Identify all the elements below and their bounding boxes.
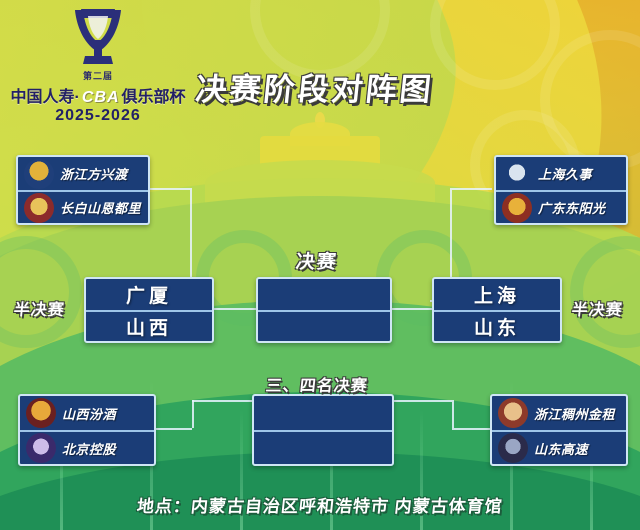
quarterfinal-top-right-box[interactable]: 上海久事 广东东阳光 bbox=[494, 155, 628, 225]
team-name: 广厦 bbox=[86, 281, 212, 308]
connector-bl-to-third bbox=[192, 400, 252, 402]
quarterfinal-bottom-left-box[interactable]: 山西汾酒 北京控股 bbox=[18, 394, 156, 466]
connector-tl-h bbox=[148, 188, 190, 190]
guangdong-crest-icon bbox=[502, 193, 532, 223]
logo-title: 中国人寿·CBA俱乐部杯 bbox=[8, 83, 188, 107]
venue-footer: 地点：内蒙古自治区呼和浩特市 内蒙古体育馆 bbox=[0, 492, 640, 517]
connector-br-h bbox=[452, 428, 490, 430]
team-name: 北京控股 bbox=[62, 439, 116, 458]
quarterfinal-bottom-right-box[interactable]: 浙江稠州金租 山东高速 bbox=[490, 394, 628, 466]
label-semifinal-right: 半决赛 bbox=[571, 296, 625, 320]
label-semifinal-left: 半决赛 bbox=[13, 296, 67, 320]
chouzhou-crest-icon bbox=[498, 398, 528, 428]
table-row[interactable]: 长白山恩都里 bbox=[18, 190, 148, 223]
table-row[interactable]: 广厦 bbox=[86, 279, 212, 310]
table-row[interactable]: 浙江方兴渡 bbox=[18, 157, 148, 190]
semifinal-right-box[interactable]: 上海 山东 bbox=[432, 277, 562, 343]
table-row[interactable]: 山东 bbox=[434, 310, 560, 341]
connector-sf-right-to-final bbox=[388, 308, 432, 310]
team-name: 浙江方兴渡 bbox=[60, 164, 128, 183]
team-name: 上海久事 bbox=[538, 164, 592, 183]
table-row[interactable]: 上海久事 bbox=[496, 157, 626, 190]
connector-bl-v bbox=[192, 400, 194, 428]
table-row[interactable]: 上海 bbox=[434, 279, 560, 310]
team-name: 长白山恩都里 bbox=[60, 198, 141, 217]
logo-edition: 第二届 bbox=[8, 69, 188, 82]
table-row[interactable] bbox=[254, 396, 392, 430]
beijing-crest-icon bbox=[26, 433, 56, 463]
semifinal-left-box[interactable]: 广厦 山西 bbox=[84, 277, 214, 343]
shandong-crest-icon bbox=[498, 433, 528, 463]
team-name: 山西汾酒 bbox=[62, 404, 116, 423]
logo-season: 2025-2026 bbox=[8, 107, 188, 125]
tournament-logo: 第二届 中国人寿·CBA俱乐部杯 2025-2026 bbox=[8, 6, 188, 125]
connector-sf-left-to-final bbox=[210, 308, 256, 310]
table-row[interactable] bbox=[254, 430, 392, 464]
team-name: 山西 bbox=[86, 313, 212, 340]
team-name: 广东东阳光 bbox=[538, 198, 606, 217]
zhejiang-crest-icon bbox=[24, 159, 54, 189]
connector-tr-h bbox=[452, 188, 492, 190]
table-row[interactable] bbox=[258, 279, 390, 310]
table-row[interactable]: 浙江稠州金租 bbox=[492, 396, 626, 430]
table-row[interactable]: 山西 bbox=[86, 310, 212, 341]
page-title: 决赛阶段对阵图 bbox=[194, 64, 437, 109]
connector-br-v bbox=[452, 400, 454, 428]
team-name: 上海 bbox=[434, 281, 560, 308]
third-place-match-box[interactable] bbox=[252, 394, 394, 466]
logo-league: CBA bbox=[80, 89, 122, 107]
table-row[interactable]: 北京控股 bbox=[20, 430, 154, 464]
quarterfinal-top-left-box[interactable]: 浙江方兴渡 长白山恩都里 bbox=[16, 155, 150, 225]
bracket-poster: 第二届 中国人寿·CBA俱乐部杯 2025-2026 决赛阶段对阵图 浙江方兴渡… bbox=[0, 0, 640, 530]
team-name: 山东高速 bbox=[534, 439, 588, 458]
team-name: 浙江稠州金租 bbox=[534, 404, 615, 423]
trophy-icon bbox=[55, 6, 141, 68]
team-name: 山东 bbox=[434, 313, 560, 340]
label-final: 决赛 bbox=[295, 247, 340, 274]
label-third-place: 三、四名决赛 bbox=[265, 372, 370, 396]
table-row[interactable] bbox=[258, 310, 390, 341]
logo-sponsor: 中国人寿· bbox=[10, 89, 79, 106]
changbaishan-crest-icon bbox=[24, 193, 54, 223]
final-match-box[interactable] bbox=[256, 277, 392, 343]
table-row[interactable]: 广东东阳光 bbox=[496, 190, 626, 223]
logo-cup: 俱乐部杯 bbox=[122, 89, 186, 106]
connector-br-to-third bbox=[390, 400, 452, 402]
table-row[interactable]: 山西汾酒 bbox=[20, 396, 154, 430]
shanghai-crest-icon bbox=[502, 159, 532, 189]
connector-bl-h bbox=[152, 428, 192, 430]
table-row[interactable]: 山东高速 bbox=[492, 430, 626, 464]
shanxi-crest-icon bbox=[26, 398, 56, 428]
